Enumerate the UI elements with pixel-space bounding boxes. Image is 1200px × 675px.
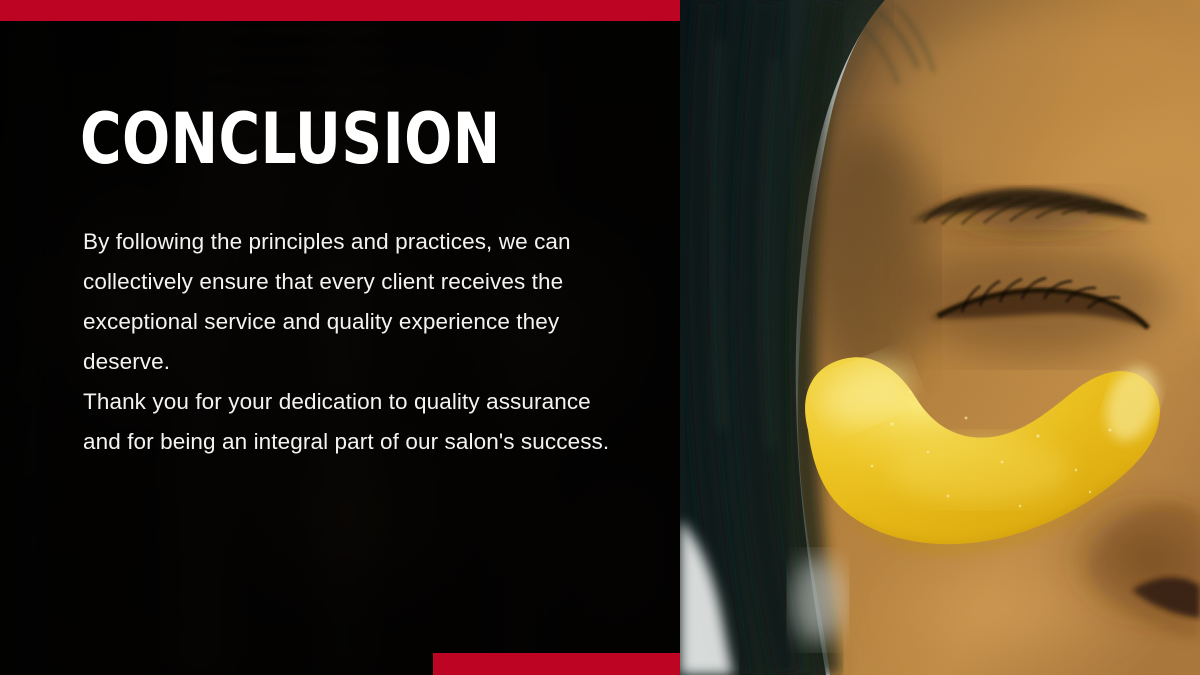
body-paragraph-1: By following the principles and practice… xyxy=(83,222,631,382)
hero-photo xyxy=(680,0,1200,675)
face-closeup-illustration xyxy=(680,0,1200,675)
page-title: CONCLUSION xyxy=(80,104,501,174)
presentation-slide: CONCLUSION By following the principles a… xyxy=(0,0,1200,675)
bottom-red-accent-bar xyxy=(433,653,680,675)
body-paragraph-2: Thank you for your dedication to quality… xyxy=(83,382,631,462)
top-red-accent-bar xyxy=(0,0,680,21)
body-text-block: By following the principles and practice… xyxy=(83,222,631,462)
